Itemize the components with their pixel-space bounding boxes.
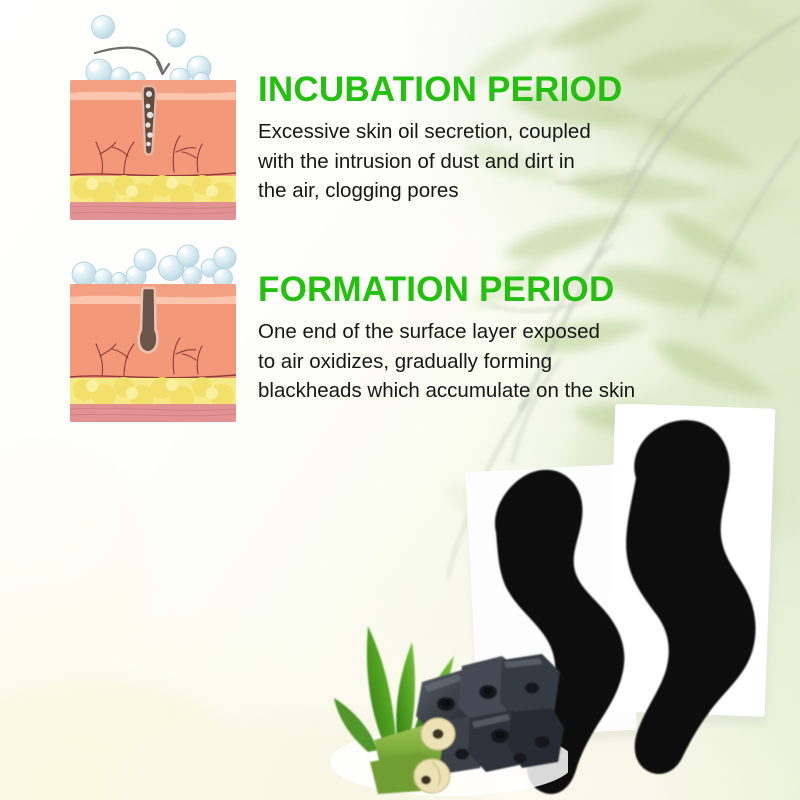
body-formation-line-1: One end of the surface layer exposed — [258, 317, 698, 346]
heading-formation: FORMATION PERIOD — [258, 272, 698, 308]
diagram-formation-blackhead — [62, 238, 244, 428]
oil-dust-bubbles — [92, 16, 186, 48]
section-formation-text: FORMATION PERIOD One end of the surface … — [258, 272, 698, 405]
heading-incubation: INCUBATION PERIOD — [258, 72, 678, 108]
bamboo-charcoal-photo — [312, 612, 568, 800]
clogged-pore — [143, 86, 157, 155]
infographic-canvas: INCUBATION PERIOD Excessive skin oil sec… — [0, 0, 800, 800]
surface-bubbles — [72, 245, 236, 288]
section-incubation-text: INCUBATION PERIOD Excessive skin oil sec… — [258, 72, 678, 205]
body-incubation-line-1: Excessive skin oil secretion, coupled — [258, 117, 678, 146]
body-incubation: Excessive skin oil secretion, coupled wi… — [258, 117, 678, 204]
body-formation-line-2: to air oxidizes, gradually forming — [258, 347, 698, 376]
diagram-incubation-clogged-pore — [62, 8, 244, 226]
body-incubation-line-2: with the intrusion of dust and dirt in — [258, 147, 678, 176]
body-incubation-line-3: the air, clogging pores — [258, 176, 678, 205]
body-formation-line-3: blackheads which accumulate on the skin — [258, 376, 698, 405]
blackhead-plug — [139, 288, 158, 352]
body-formation: One end of the surface layer exposed to … — [258, 317, 698, 404]
bamboo-cut-face-lower — [414, 759, 450, 793]
